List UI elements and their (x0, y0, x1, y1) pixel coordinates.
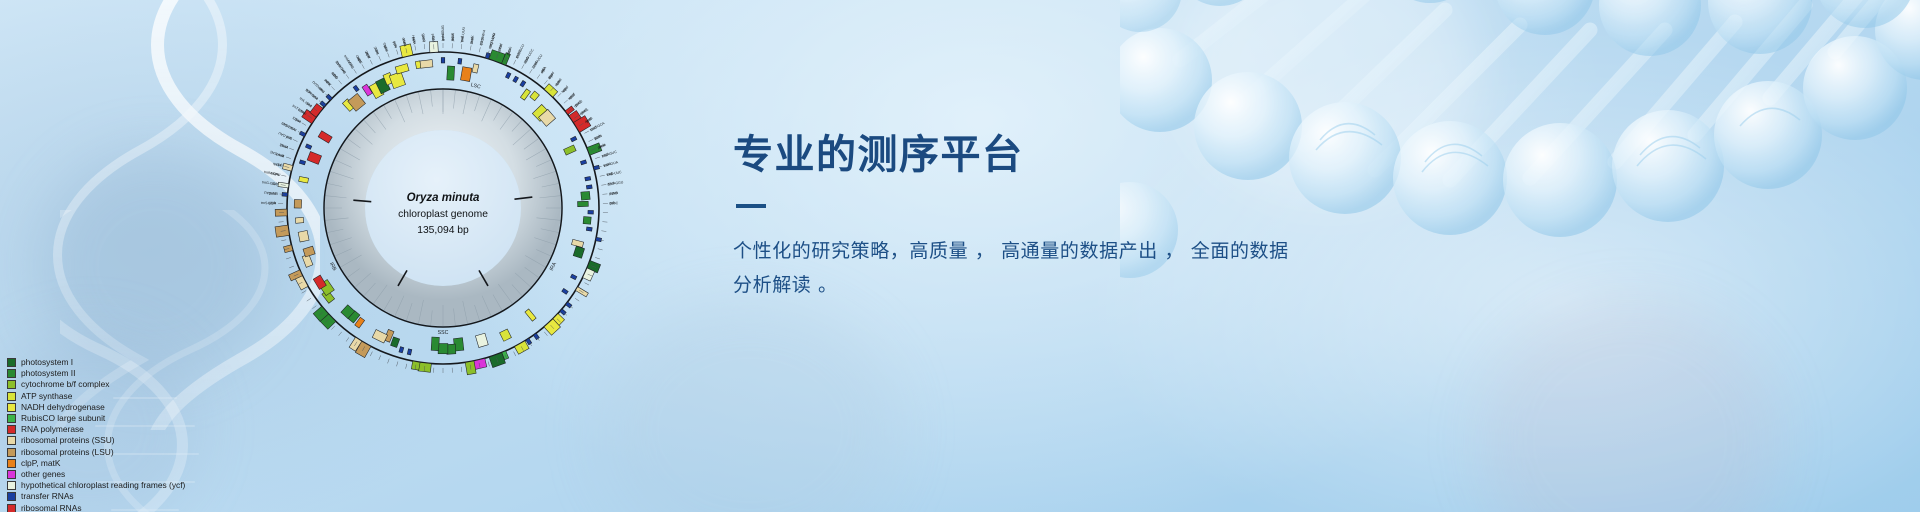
gene-feature (520, 89, 530, 100)
gene-leader-line (388, 359, 390, 364)
gene-label: trnV-GAC (269, 150, 285, 159)
gene-feature (593, 165, 599, 170)
legend-swatch (7, 392, 16, 401)
gene-feature (438, 344, 448, 354)
gene-feature (472, 64, 479, 73)
gene-leader-line (537, 75, 540, 79)
gene-label: trnW-CCA (479, 29, 487, 46)
gene-leader-line (302, 291, 306, 294)
gene-leader-line (388, 53, 390, 58)
gene-feature (299, 160, 305, 165)
gene-leader-line (424, 44, 425, 49)
legend-swatch (7, 470, 16, 479)
gene-feature (570, 136, 577, 142)
legend-label: ATP synthase (21, 392, 72, 401)
gene-feature (530, 91, 540, 101)
legend-label: cytochrome b/f complex (21, 380, 109, 389)
gene-label: trnP-UGG (488, 32, 496, 48)
marketing-copy: 专业的测序平台 个性化的研究策略，高质量 ， 高通量的数据产出 ， 全面的数据分… (733, 133, 1353, 302)
gene-label: ndhI (392, 41, 398, 49)
gene-feature (562, 288, 569, 294)
gene-leader-line (281, 240, 286, 241)
gene-feature (391, 337, 400, 348)
legend-item: NADH dehydrogenase (7, 402, 185, 413)
gene-leader-line (339, 332, 342, 336)
legend-item: cytochrome b/f complex (7, 379, 185, 390)
legend-item: clpP, matK (7, 458, 185, 469)
gene-leader-line (595, 157, 600, 159)
gene-feature (298, 230, 309, 242)
gene-category-legend: photosystem I photosystem II cytochrome … (7, 357, 185, 512)
gene-leader-line (331, 86, 334, 90)
gene-leader-line (564, 100, 568, 103)
legend-label: NADH dehydrogenase (21, 403, 105, 412)
gene-leader-line (307, 298, 311, 301)
gene-feature (525, 309, 536, 321)
gene-feature (372, 330, 387, 343)
legend-item: ribosomal proteins (SSU) (7, 435, 185, 446)
legend-item: ribosomal RNAs (7, 502, 185, 512)
gene-feature (399, 347, 404, 353)
legend-label: ribosomal proteins (LSU) (21, 448, 114, 457)
gene-leader-line (589, 139, 594, 141)
gene-leader-line (370, 352, 372, 356)
legend-item: ribosomal proteins (LSU) (7, 447, 185, 458)
genome-organism-name: Oryza minuta (407, 192, 480, 204)
legend-label: photosystem I (21, 358, 73, 367)
gene-feature (588, 210, 594, 214)
gene-feature (520, 80, 526, 87)
legend-label: RubisCO large subunit (21, 414, 105, 423)
legend-label: other genes (21, 470, 65, 479)
gene-leader-line (339, 80, 342, 84)
legend-label: clpP, matK (21, 459, 60, 468)
gene-feature (441, 58, 445, 64)
bokeh-blob-center (600, 300, 900, 512)
gene-label: trnL-UAG (335, 59, 347, 74)
gene-feature (586, 227, 592, 231)
gene-label: rps19 (609, 191, 618, 196)
chloroplast-genome-map: LSC IRB SSC IRA trnH-GUGpsbAtrnK-UUUmatK… (243, 8, 643, 408)
gene-leader-line (544, 80, 547, 84)
legend-swatch (7, 492, 16, 501)
gene-feature (580, 160, 586, 165)
gene-label: psbF (441, 33, 445, 41)
gene-leader-line (406, 364, 407, 369)
region-label-ira: IRA (549, 261, 559, 272)
legend-swatch (7, 380, 16, 389)
gene-leader-line (379, 355, 381, 360)
bokeh-blob-left (40, 150, 270, 380)
gene-feature (573, 246, 584, 258)
legend-item: hypothetical chloroplast reading frames … (7, 480, 185, 491)
bokeh-blob-right (1480, 300, 1780, 512)
legend-swatch (7, 504, 16, 512)
gene-leader-line (293, 139, 298, 141)
legend-swatch (7, 425, 16, 434)
gene-feature (586, 185, 592, 189)
gene-feature (460, 67, 471, 82)
gene-leader-line (397, 50, 398, 55)
legend-label: hypothetical chloroplast reading frames … (21, 481, 185, 490)
legend-label: ribosomal proteins (SSU) (21, 436, 115, 445)
gene-leader-line (595, 257, 600, 259)
gene-label: petL (460, 36, 465, 43)
gene-leader-line (286, 257, 291, 259)
gene-leader-line (362, 64, 364, 68)
gene-leader-line (461, 44, 462, 49)
gene-feature (307, 152, 321, 165)
gene-leader-line (346, 337, 349, 341)
legend-item: ATP synthase (7, 391, 185, 402)
legend-swatch (7, 459, 16, 468)
gene-leader-line (601, 231, 606, 232)
genome-length: 135,094 bp (417, 225, 469, 236)
gene-leader-line (585, 283, 589, 285)
gene-leader-line (331, 326, 334, 330)
gene-leader-line (289, 266, 294, 268)
gene-leader-line (302, 123, 306, 126)
gene-feature (500, 329, 512, 341)
gene-feature (395, 64, 409, 74)
legend-item: photosystem II (7, 368, 185, 379)
gene-leader-line (370, 60, 372, 64)
region-label-irb: IRB (328, 261, 338, 272)
gene-leader-line (544, 332, 547, 336)
region-label-ssc: SSC (438, 330, 449, 336)
gene-feature (303, 246, 315, 257)
gene-feature (420, 60, 433, 69)
gene-label: ndhB (270, 171, 279, 177)
gene-feature (431, 337, 439, 351)
legend-item: other genes (7, 469, 185, 480)
legend-swatch (7, 414, 16, 423)
gene-leader-line (479, 47, 480, 52)
gene-label: ycf1 (431, 36, 435, 43)
gene-feature (318, 131, 332, 143)
legend-label: photosystem II (21, 369, 75, 378)
gene-feature (578, 201, 589, 206)
gene-feature (353, 85, 359, 92)
gene-feature (564, 145, 577, 155)
gene-leader-line (522, 64, 524, 68)
gene-label: ndhH (411, 34, 416, 43)
gene-leader-line (281, 175, 286, 176)
gene-leader-line (514, 60, 516, 64)
gene-label: psbE (450, 33, 454, 42)
gene-leader-line (530, 69, 533, 73)
gene-feature (570, 274, 577, 280)
gene-leader-line (346, 75, 349, 79)
gene-feature (581, 191, 590, 200)
gene-leader-line (397, 362, 398, 367)
legend-item: transfer RNAs (7, 491, 185, 502)
gene-feature (294, 200, 301, 209)
legend-label: transfer RNAs (21, 492, 74, 501)
gene-leader-line (488, 362, 489, 367)
legend-item: RubisCO large subunit (7, 413, 185, 424)
gene-feature (583, 217, 591, 225)
gene-leader-line (585, 131, 589, 133)
gene-leader-line (415, 45, 416, 50)
gene-leader-line (354, 69, 357, 73)
gene-leader-line (289, 148, 294, 150)
sequencing-platform-banner: LSC IRB SSC IRA trnH-GUGpsbAtrnK-UUUmatK… (0, 0, 1920, 512)
gene-feature (458, 58, 462, 64)
gene-feature (407, 349, 412, 355)
gene-label: trnR-ACG (305, 87, 319, 100)
gene-leader-line (379, 56, 381, 61)
description-paragraph: 个性化的研究策略，高质量 ， 高通量的数据产出 ， 全面的数据分析解读 。 (733, 234, 1293, 302)
gene-feature (447, 66, 455, 80)
legend-item: RNA polymerase (7, 424, 185, 435)
gene-leader-line (558, 93, 562, 96)
gene-feature (389, 72, 405, 89)
page-title: 专业的测序平台 (733, 133, 1353, 177)
legend-swatch (7, 436, 16, 445)
gene-leader-line (286, 157, 291, 159)
legend-label: ribosomal RNAs (21, 504, 82, 512)
genome-subtitle: chloroplast genome (398, 209, 488, 220)
gene-feature (596, 237, 602, 242)
legend-swatch (7, 481, 16, 490)
gene-leader-line (470, 45, 471, 50)
gene-leader-line (598, 249, 603, 250)
gene-feature (305, 144, 311, 150)
gene-label: rpl23 (268, 201, 276, 205)
gene-feature (585, 176, 591, 181)
title-underline-rule (736, 204, 766, 208)
gene-leader-line (575, 298, 579, 301)
gene-feature (295, 217, 303, 223)
gene-label: rpl2 (609, 201, 615, 205)
legend-swatch (7, 358, 16, 367)
gene-feature (299, 176, 309, 183)
gene-leader-line (601, 185, 606, 186)
region-label-lsc: LSC (470, 82, 482, 90)
gene-feature (505, 72, 511, 78)
gene-label: rpl16 (603, 162, 612, 168)
gene-feature (513, 76, 519, 83)
gene-leader-line (514, 352, 516, 356)
gene-leader-line (600, 175, 605, 176)
legend-label: RNA polymerase (21, 425, 84, 434)
gene-leader-line (312, 306, 316, 309)
gene-feature (475, 333, 488, 347)
legend-swatch (7, 448, 16, 457)
legend-swatch (7, 403, 16, 412)
legend-swatch (7, 369, 16, 378)
gene-feature (299, 131, 306, 137)
legend-item: photosystem I (7, 357, 185, 368)
gene-leader-line (461, 367, 462, 372)
